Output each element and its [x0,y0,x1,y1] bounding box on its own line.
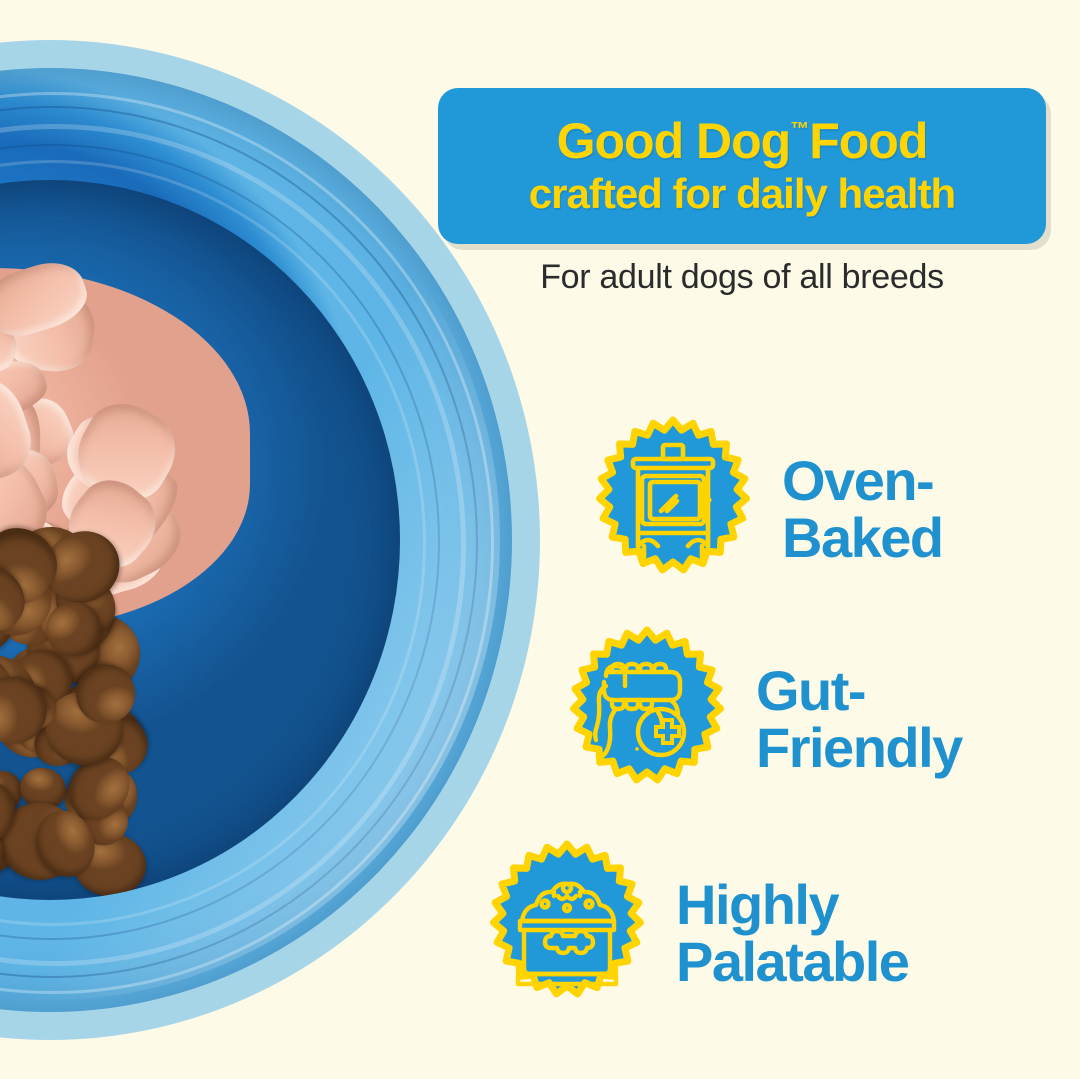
feature-label-line-2: Palatable [676,933,908,990]
feature-row-gut-friendly: Gut- Friendly [552,624,962,814]
oven-icon [578,414,768,604]
title-badge: Good Dog ™ Food crafted for daily health [438,88,1046,244]
feature-row-highly-palatable: Highly Palatable [472,838,908,1028]
bowl-interior [0,180,400,900]
trademark-symbol: ™ [790,120,809,139]
title-line-1: Good Dog ™ Food [557,116,928,166]
feature-label-line-1: Oven- [782,452,943,509]
feature-label-gut-friendly: Gut- Friendly [756,662,962,776]
feature-row-oven-baked: Oven- Baked [578,414,943,604]
bowl-food [0,180,400,900]
title-line-2: crafted for daily health [529,172,955,216]
subtitle: For adult dogs of all breeds [430,258,1054,297]
brand-name: Good Dog [557,116,791,166]
feature-label-line-2: Baked [782,509,943,566]
feature-label-line-2: Friendly [756,719,962,776]
product-word: Food [809,116,927,166]
dog-bowl-icon [472,838,662,1028]
feature-label-line-1: Gut- [756,662,962,719]
gut-health-icon [552,624,742,814]
poster-canvas: Good Dog ™ Food crafted for daily health… [0,0,1080,1079]
content-column: Good Dog ™ Food crafted for daily health… [430,0,1080,1079]
feature-label-line-1: Highly [676,876,908,933]
feature-label-highly-palatable: Highly Palatable [676,876,908,990]
feature-label-oven-baked: Oven- Baked [782,452,943,566]
